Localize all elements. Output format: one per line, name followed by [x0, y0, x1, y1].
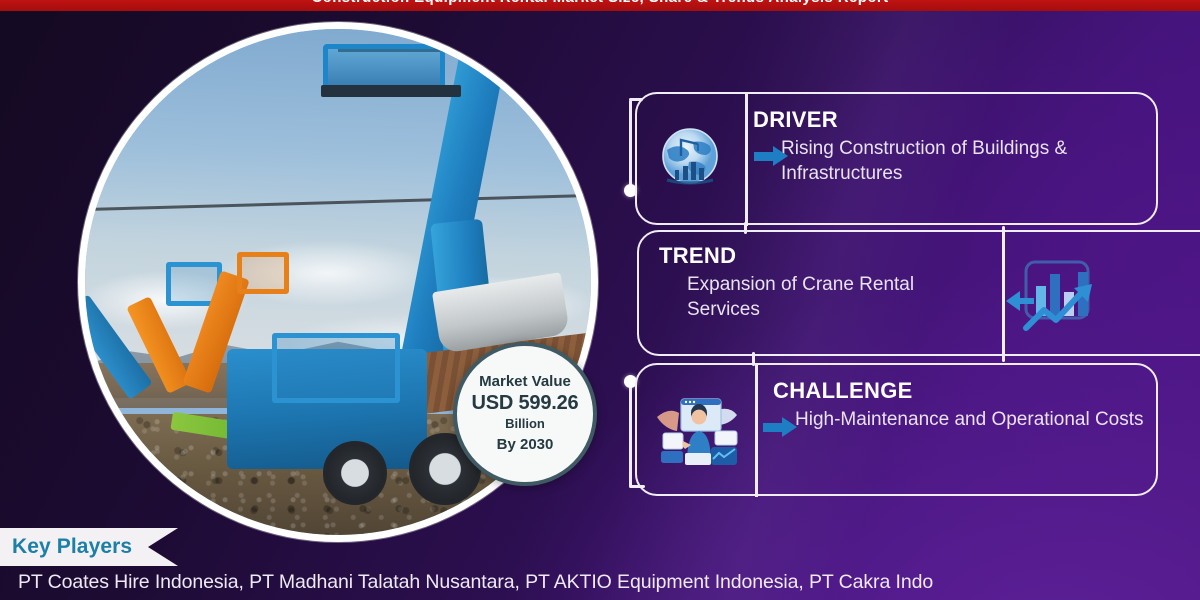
card-challenge-title: CHALLENGE — [773, 378, 913, 404]
card-driver-title: DRIVER — [753, 107, 838, 133]
card-challenge: CHALLENGE High-Maintenance and Operation… — [635, 363, 1158, 496]
top-banner-title: Construction Equipment Rental Market Siz… — [0, 0, 1200, 6]
insights-panel: DRIVER Rising Construction of Buildings … — [0, 0, 1200, 600]
badge-label: Market Value — [479, 374, 571, 391]
globe-construction-icon — [653, 120, 727, 194]
badge-value: USD 599.26 — [472, 392, 579, 414]
card-driver: DRIVER Rising Construction of Buildings … — [635, 92, 1158, 225]
card-challenge-divider — [755, 363, 758, 497]
connector-driver-vertical — [629, 100, 632, 190]
card-trend-title: TREND — [659, 243, 736, 269]
challenge-arrow-icon — [763, 417, 797, 437]
person-dashboard-icon — [655, 391, 739, 467]
badge-unit: Billion — [505, 417, 545, 432]
driver-arrow-icon — [754, 146, 788, 166]
card-driver-body: Rising Construction of Buildings & Infra… — [781, 136, 1153, 186]
key-players-list: PT Coates Hire Indonesia, PT Madhani Tal… — [18, 571, 1188, 594]
badge-year: By 2030 — [497, 437, 554, 454]
card-driver-divider — [745, 92, 748, 226]
key-players-label: Key Players — [12, 535, 132, 559]
market-value-badge: Market Value USD 599.26 Billion By 2030 — [453, 342, 597, 486]
top-red-banner: Construction Equipment Rental Market Siz… — [0, 0, 1200, 11]
bar-chart-arrows-icon — [1004, 254, 1104, 340]
card-trend-body: Expansion of Crane Rental Services — [687, 272, 987, 322]
card-challenge-body: High-Maintenance and Operational Costs — [795, 407, 1155, 432]
connector-challenge-vertical — [629, 382, 632, 487]
card-trend: TREND Expansion of Crane Rental Services — [637, 230, 1200, 356]
